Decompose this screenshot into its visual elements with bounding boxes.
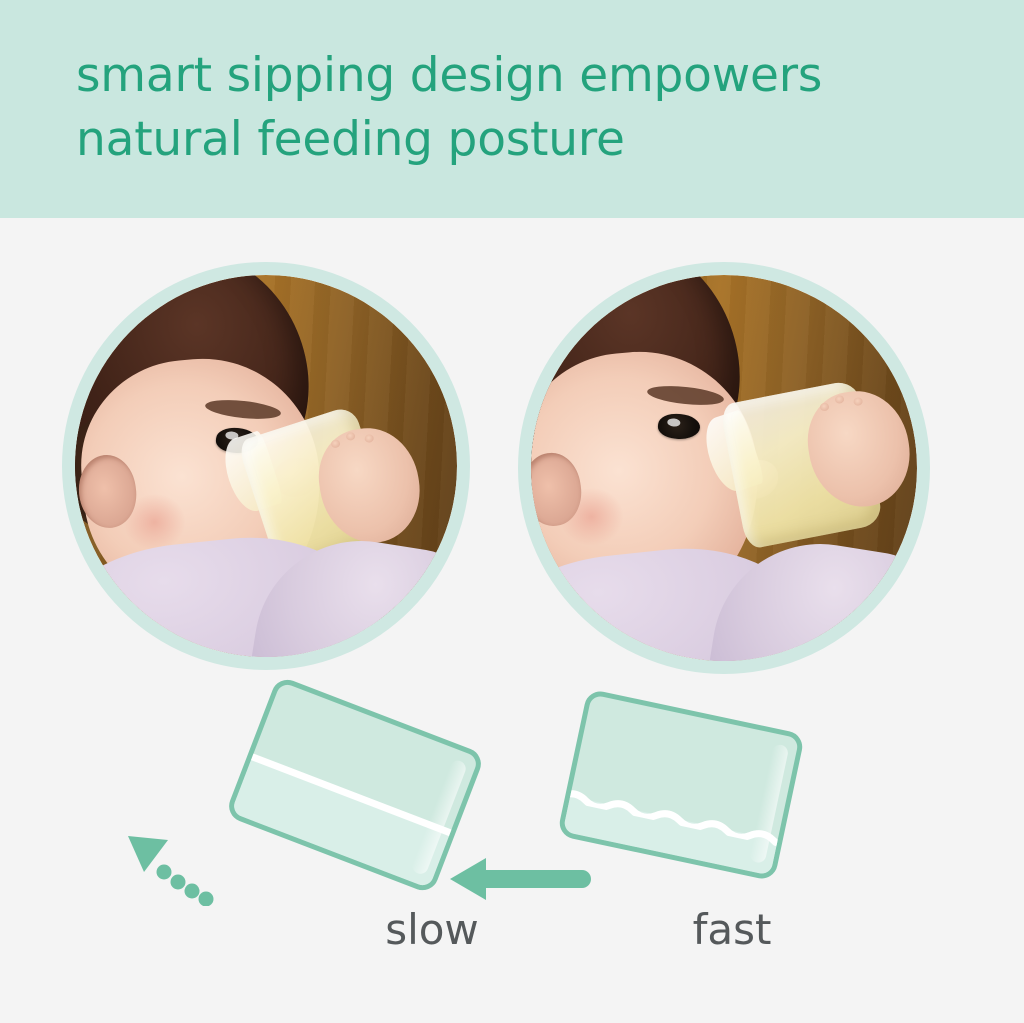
baby-finger <box>835 395 845 404</box>
diagram-caption-fast: fast <box>532 905 932 955</box>
solid-arrow-left-icon <box>446 850 596 908</box>
baby-finger <box>819 402 829 411</box>
baby-finger <box>363 434 373 443</box>
header-band: smart sipping design empowers natural fe… <box>0 0 1024 218</box>
photo-circle-slow <box>62 262 470 670</box>
dotted-arrow-up-left-icon <box>122 828 232 906</box>
baby-finger <box>853 397 863 406</box>
photo-image-slow <box>75 275 457 657</box>
baby-finger <box>330 439 340 448</box>
baby-finger <box>345 432 355 441</box>
cup-tilted-fast-icon <box>570 710 830 900</box>
photo-circle-fast <box>518 262 930 674</box>
diagram-item-fast: fast <box>440 700 840 1023</box>
page-headline: smart sipping design empowers natural fe… <box>76 44 976 172</box>
diagram-row: slow fast <box>0 700 1024 1023</box>
photo-image-fast <box>531 275 917 661</box>
photo-row <box>0 218 1024 710</box>
